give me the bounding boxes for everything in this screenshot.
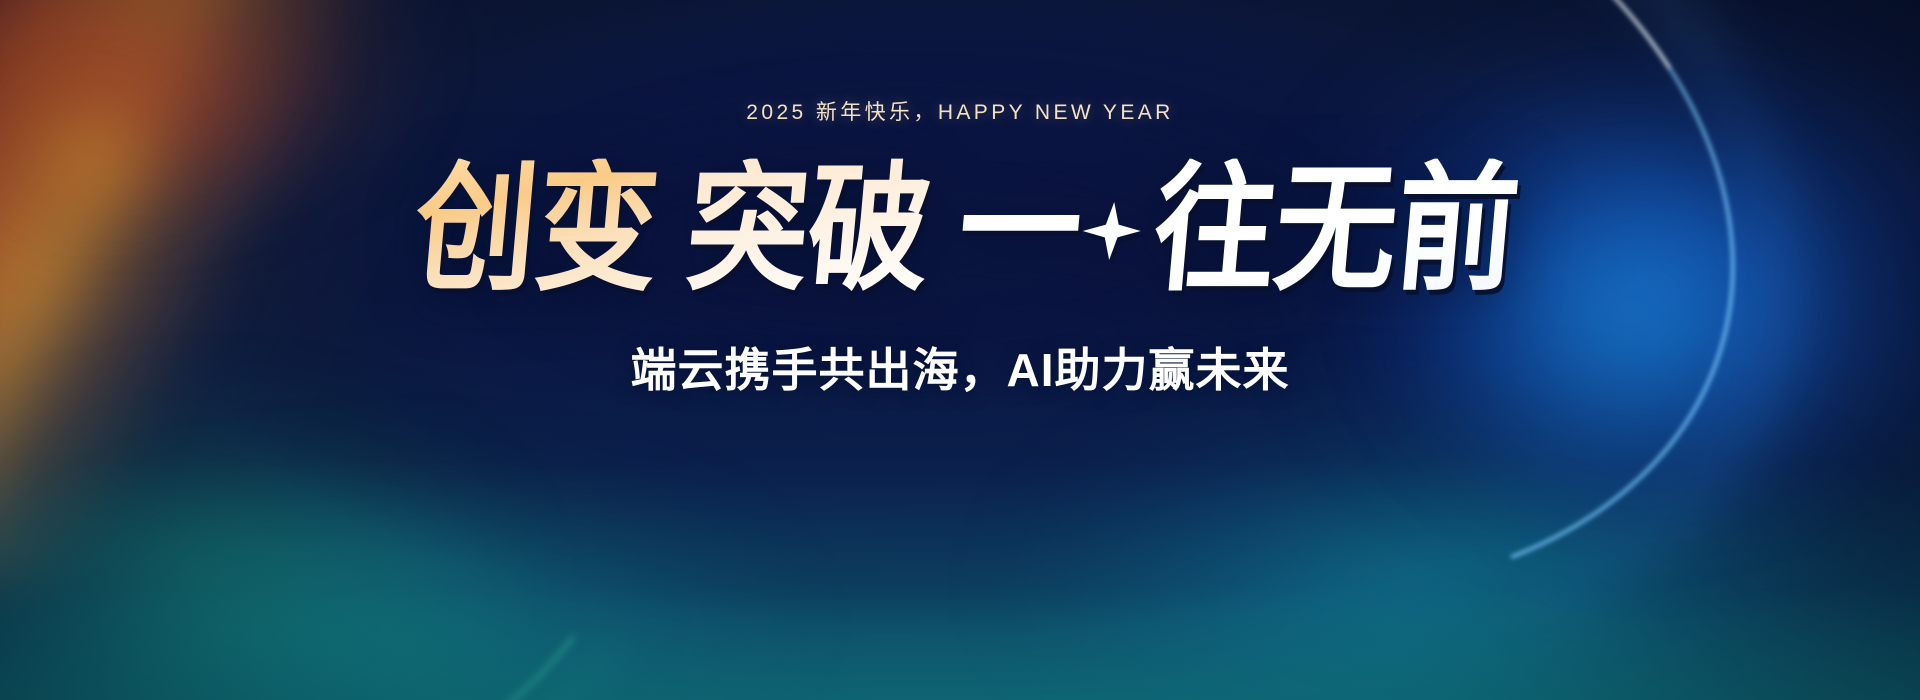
sparkle-icon (1069, 178, 1154, 300)
subtitle-text: 端云携手共出海，AI助力赢未来 (631, 334, 1290, 400)
headline-segment-wangwuqian: 往无前 (1148, 159, 1523, 301)
banner-stage: 2025 新年快乐，HAPPY NEW YEAR 创变 突破 一 往无前 端云携… (0, 0, 1920, 700)
banner-content: 2025 新年快乐，HAPPY NEW YEAR 创变 突破 一 往无前 端云携… (0, 0, 1920, 700)
headline-segment-tupo: 突破 (681, 159, 935, 301)
eyebrow-text: 2025 新年快乐，HAPPY NEW YEAR (746, 96, 1173, 126)
headline-segment-chuangbian: 创变 (409, 159, 663, 301)
headline-segment-yi: 一 (953, 159, 1086, 301)
headline: 创变 突破 一 往无前 (409, 176, 1511, 300)
